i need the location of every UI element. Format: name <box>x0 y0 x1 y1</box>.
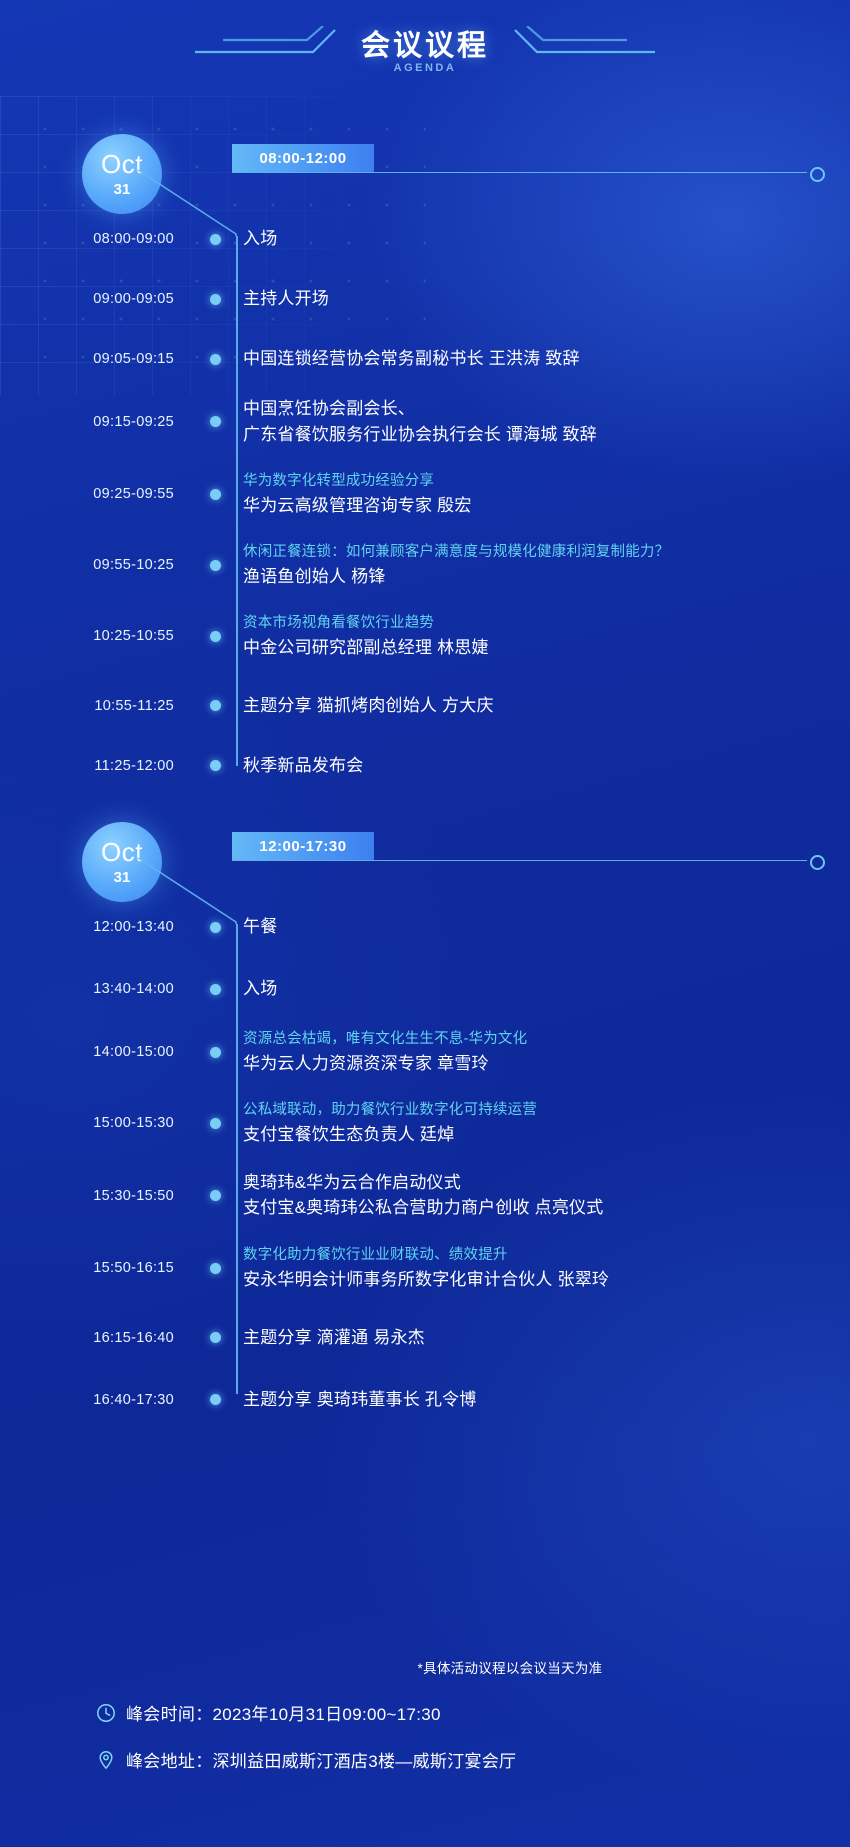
timeline-dot-wrap <box>194 294 236 305</box>
agenda-row-subtitle: 资源总会枯竭，唯有文化生生不息-华为文化 <box>243 1028 850 1050</box>
agenda-row: 15:00-15:30公私域联动，助力餐饮行业数字化可持续运营支付宝餐饮生态负责… <box>0 1099 850 1148</box>
agenda-row-title: 主题分享 奥琦玮董事长 孔令博 <box>243 1387 850 1413</box>
location-pin-icon <box>96 1750 116 1770</box>
agenda-row-time: 09:00-09:05 <box>0 291 194 307</box>
agenda-row: 13:40-14:00入场 <box>0 966 850 1012</box>
angled-bracket-right-icon <box>505 26 655 60</box>
timeline-dot-icon <box>210 984 221 995</box>
disclaimer-text: *具体活动议程以会议当天为准 <box>248 1661 603 1676</box>
page-title: 会议议程 <box>361 22 489 64</box>
agenda-row-body: 秋季新品发布会 <box>236 753 850 779</box>
summit-time-line: 峰会时间：2023年10月31日09:00~17:30 <box>96 1700 516 1725</box>
agenda-row-body: 主题分享 猫抓烤肉创始人 方大庆 <box>236 693 850 719</box>
agenda-row: 16:40-17:30主题分享 奥琦玮董事长 孔令博 <box>0 1377 850 1423</box>
timeline-dot-icon <box>210 489 221 500</box>
rail-endpoint-icon <box>810 167 825 182</box>
agenda-row-time: 14:00-15:00 <box>0 1044 194 1060</box>
agenda-row-subtitle: 休闲正餐连锁：如何兼顾客户满意度与规模化健康利润复制能力？ <box>243 541 850 563</box>
timeline-dot-wrap <box>194 1394 236 1405</box>
badge-day: 31 <box>114 182 131 197</box>
agenda-row: 08:00-09:00入场 <box>0 216 850 262</box>
timeline-dot-icon <box>210 416 221 427</box>
agenda-row-time: 16:15-16:40 <box>0 1330 194 1346</box>
timeline-dot-wrap <box>194 416 236 427</box>
session-time-band: 12:00-17:30 <box>232 832 374 860</box>
agenda-row: 09:55-10:25休闲正餐连锁：如何兼顾客户满意度与规模化健康利润复制能力？… <box>0 541 850 590</box>
timeline-dot-icon <box>210 234 221 245</box>
agenda-row-body: 主持人开场 <box>236 286 850 312</box>
timeline-dot-icon <box>210 922 221 933</box>
agenda-row-time: 09:55-10:25 <box>0 557 194 573</box>
agenda-row-time: 15:00-15:30 <box>0 1115 194 1131</box>
timeline-dot-icon <box>210 354 221 365</box>
timeline-dot-icon <box>210 1263 221 1274</box>
agenda-row: 10:25-10:55资本市场视角看餐饮行业趋势中金公司研究部副总经理 林思婕 <box>0 612 850 661</box>
agenda-row: 12:00-13:40午餐 <box>0 904 850 950</box>
agenda-row-title: 主题分享 滴灌通 易永杰 <box>243 1325 850 1351</box>
timeline-dot-icon <box>210 1332 221 1343</box>
timeline-dot-wrap <box>194 1190 236 1201</box>
agenda-row-title-line2: 广东省餐饮服务行业协会执行会长 谭海城 致辞 <box>243 422 850 448</box>
rail-endpoint-icon <box>810 855 825 870</box>
agenda-row-body: 主题分享 奥琦玮董事长 孔令博 <box>236 1387 850 1413</box>
agenda-row-time: 16:40-17:30 <box>0 1392 194 1408</box>
angled-bracket-left-icon <box>195 26 345 60</box>
agenda-disclaimer: *具体活动议程以会议当天为准 <box>0 1657 850 1677</box>
agenda-row-time: 12:00-13:40 <box>0 919 194 935</box>
timeline-dot-wrap <box>194 922 236 933</box>
timeline-dot-icon <box>210 700 221 711</box>
clock-icon <box>96 1703 116 1723</box>
agenda-row: 09:00-09:05主持人开场 <box>0 276 850 322</box>
agenda-row-time: 10:25-10:55 <box>0 628 194 644</box>
agenda-row: 10:55-11:25主题分享 猫抓烤肉创始人 方大庆 <box>0 683 850 729</box>
agenda-row: 15:50-16:15数字化助力餐饮行业业财联动、绩效提升安永华明会计师事务所数… <box>0 1244 850 1293</box>
agenda-row-body: 资源总会枯竭，唯有文化生生不息-华为文化华为云人力资源资深专家 章雪玲 <box>236 1028 850 1077</box>
timeline-dot-wrap <box>194 1332 236 1343</box>
agenda-row-title: 午餐 <box>243 914 850 940</box>
timeline-dot-wrap <box>194 1263 236 1274</box>
agenda-rows: 08:00-09:00入场09:00-09:05主持人开场09:05-09:15… <box>0 216 850 789</box>
agenda-rows: 12:00-13:40午餐13:40-14:00入场14:00-15:00资源总… <box>0 904 850 1423</box>
agenda-row-time: 09:15-09:25 <box>0 414 194 430</box>
agenda-row: 11:25-12:00秋季新品发布会 <box>0 743 850 789</box>
agenda-row-time: 09:25-09:55 <box>0 486 194 502</box>
timeline-dot-wrap <box>194 631 236 642</box>
page-subtitle: AGENDA <box>0 62 850 74</box>
timeline-dot-wrap <box>194 560 236 571</box>
summit-time-value: 2023年10月31日09:00~17:30 <box>213 1705 441 1724</box>
timeline-dot-icon <box>210 1047 221 1058</box>
timeline-dot-icon <box>210 1118 221 1129</box>
agenda-row: 14:00-15:00资源总会枯竭，唯有文化生生不息-华为文化华为云人力资源资深… <box>0 1028 850 1077</box>
agenda-row: 09:15-09:25中国烹饪协会副会长、广东省餐饮服务行业协会执行会长 谭海城… <box>0 396 850 448</box>
agenda-row-time: 13:40-14:00 <box>0 981 194 997</box>
agenda-row-title: 主持人开场 <box>243 286 850 312</box>
summit-place-value: 深圳益田威斯汀酒店3楼—威斯汀宴会厅 <box>213 1752 517 1771</box>
agenda-row-title: 秋季新品发布会 <box>243 753 850 779</box>
agenda-row-time: 10:55-11:25 <box>0 698 194 714</box>
agenda-row-time: 09:05-09:15 <box>0 351 194 367</box>
agenda-row-time: 15:30-15:50 <box>0 1188 194 1204</box>
timeline-dot-wrap <box>194 354 236 365</box>
agenda-row-title: 华为云人力资源资深专家 章雪玲 <box>243 1051 850 1077</box>
agenda-poster: 会议议程 AGENDA Oct 31 08:00-12:00 08: <box>0 0 850 1847</box>
timeline-dot-wrap <box>194 1118 236 1129</box>
agenda-row: 09:25-09:55华为数字化转型成功经验分享华为云高级管理咨询专家 殷宏 <box>0 470 850 519</box>
agenda-row-body: 中国连锁经营协会常务副秘书长 王洪涛 致辞 <box>236 346 850 372</box>
summit-place-line: 峰会地址：深圳益田威斯汀酒店3楼—威斯汀宴会厅 <box>96 1747 516 1772</box>
agenda-row-body: 休闲正餐连锁：如何兼顾客户满意度与规模化健康利润复制能力？渔语鱼创始人 杨锋 <box>236 541 850 590</box>
agenda-row-body: 中国烹饪协会副会长、广东省餐饮服务行业协会执行会长 谭海城 致辞 <box>236 396 850 448</box>
agenda-row-time: 15:50-16:15 <box>0 1260 194 1276</box>
agenda-row-title: 主题分享 猫抓烤肉创始人 方大庆 <box>243 693 850 719</box>
agenda-row-subtitle: 华为数字化转型成功经验分享 <box>243 470 850 492</box>
timeline-dot-wrap <box>194 489 236 500</box>
agenda-row-body: 入场 <box>236 226 850 252</box>
timeline-dot-icon <box>210 294 221 305</box>
agenda-row-title: 中国烹饪协会副会长、 <box>243 396 850 422</box>
agenda-row-body: 奥琦玮&华为云合作启动仪式支付宝&奥琦玮公私合营助力商户创收 点亮仪式 <box>236 1170 850 1222</box>
agenda-row-title: 渔语鱼创始人 杨锋 <box>243 564 850 590</box>
session-time-band: 08:00-12:00 <box>232 144 374 172</box>
agenda-row-body: 入场 <box>236 976 850 1002</box>
timeline-dot-wrap <box>194 700 236 711</box>
agenda-row-time: 11:25-12:00 <box>0 758 194 774</box>
timeline-dot-icon <box>210 560 221 571</box>
agenda-row-title: 入场 <box>243 976 850 1002</box>
agenda-row-title: 中国连锁经营协会常务副秘书长 王洪涛 致辞 <box>243 346 850 372</box>
agenda-row: 09:05-09:15中国连锁经营协会常务副秘书长 王洪涛 致辞 <box>0 336 850 382</box>
agenda-row-title: 奥琦玮&华为云合作启动仪式 <box>243 1170 850 1196</box>
timeline-dot-wrap <box>194 234 236 245</box>
summit-time-label: 峰会时间： <box>126 1705 213 1724</box>
agenda-row-title: 入场 <box>243 226 850 252</box>
agenda-row-body: 华为数字化转型成功经验分享华为云高级管理咨询专家 殷宏 <box>236 470 850 519</box>
timeline-dot-icon <box>210 760 221 771</box>
page-header: 会议议程 AGENDA <box>0 0 850 100</box>
badge-day: 31 <box>114 870 131 885</box>
agenda-row-title: 华为云高级管理咨询专家 殷宏 <box>243 493 850 519</box>
agenda-row: 15:30-15:50奥琦玮&华为云合作启动仪式支付宝&奥琦玮公私合营助力商户创… <box>0 1170 850 1222</box>
footer-info: 峰会时间：2023年10月31日09:00~17:30 峰会地址：深圳益田威斯汀… <box>96 1700 516 1794</box>
timeline-dot-icon <box>210 1190 221 1201</box>
agenda-row-body: 数字化助力餐饮行业业财联动、绩效提升安永华明会计师事务所数字化审计合伙人 张翠玲 <box>236 1244 850 1293</box>
agenda-row-body: 午餐 <box>236 914 850 940</box>
agenda-row-title-line2: 支付宝&奥琦玮公私合营助力商户创收 点亮仪式 <box>243 1195 850 1221</box>
agenda-row-body: 资本市场视角看餐饮行业趋势中金公司研究部副总经理 林思婕 <box>236 612 850 661</box>
agenda-row-subtitle: 数字化助力餐饮行业业财联动、绩效提升 <box>243 1244 850 1266</box>
summit-place-label: 峰会地址： <box>126 1752 213 1771</box>
timeline-dot-icon <box>210 631 221 642</box>
agenda-row-subtitle: 公私域联动，助力餐饮行业数字化可持续运营 <box>243 1099 850 1121</box>
agenda-row-title: 安永华明会计师事务所数字化审计合伙人 张翠玲 <box>243 1267 850 1293</box>
timeline-dot-wrap <box>194 1047 236 1058</box>
agenda-row-body: 公私域联动，助力餐饮行业数字化可持续运营支付宝餐饮生态负责人 廷焯 <box>236 1099 850 1148</box>
timeline-dot-wrap <box>194 760 236 771</box>
agenda-row-body: 主题分享 滴灌通 易永杰 <box>236 1325 850 1351</box>
agenda-row-title: 支付宝餐饮生态负责人 廷焯 <box>243 1122 850 1148</box>
agenda-row: 16:15-16:40主题分享 滴灌通 易永杰 <box>0 1315 850 1361</box>
agenda-row-time: 08:00-09:00 <box>0 231 194 247</box>
timeline-dot-wrap <box>194 984 236 995</box>
timeline-dot-icon <box>210 1394 221 1405</box>
agenda-row-subtitle: 资本市场视角看餐饮行业趋势 <box>243 612 850 634</box>
agenda-row-title: 中金公司研究部副总经理 林思婕 <box>243 635 850 661</box>
